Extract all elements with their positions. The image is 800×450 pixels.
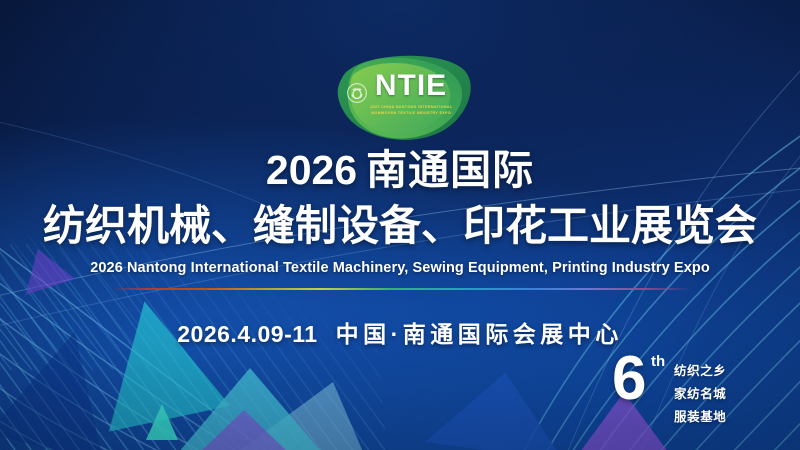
edition-tag: 纺织之乡 (674, 360, 726, 379)
edition-tag-list: 纺织之乡 家纺名城 服装基地 (674, 360, 726, 425)
title-line-1-text: 南通国际 (366, 147, 534, 193)
logo-wordmark: NTIE (375, 71, 447, 101)
event-venue: 中国·南通国际会展中心 (336, 321, 623, 347)
logo-tagline-line2: NONWOVEN TEXTILE INDUSTRY EXPO (370, 111, 452, 117)
edition-badge: 6 th 纺织之乡 家纺名城 服装基地 (612, 352, 792, 424)
title-line-2: 纺织机械、缝制设备、印花工业展览会 (0, 205, 800, 247)
expo-poster: NTIE 2021 CHINA NANTONG INTERNATIONAL NO… (0, 0, 800, 450)
title-year: 2026 (266, 147, 357, 193)
edition-tag: 家纺名城 (674, 383, 726, 402)
title-line-1: 2026南通国际 (0, 150, 800, 191)
ntie-logo: NTIE 2021 CHINA NANTONG INTERNATIONAL NO… (324, 44, 484, 144)
event-date: 2026.4.09-11 (177, 321, 317, 347)
edition-ordinal-suffix: th (651, 354, 665, 369)
logo-tagline: 2021 CHINA NANTONG INTERNATIONAL NONWOVE… (370, 105, 452, 116)
event-date-venue: 2026.4.09-11中国·南通国际会展中心 (0, 315, 800, 349)
edition-number: 6 (612, 348, 646, 410)
rainbow-divider (112, 288, 692, 290)
title-english: 2026 Nantong International Textile Machi… (0, 260, 800, 276)
edition-tag: 服装基地 (674, 406, 726, 425)
